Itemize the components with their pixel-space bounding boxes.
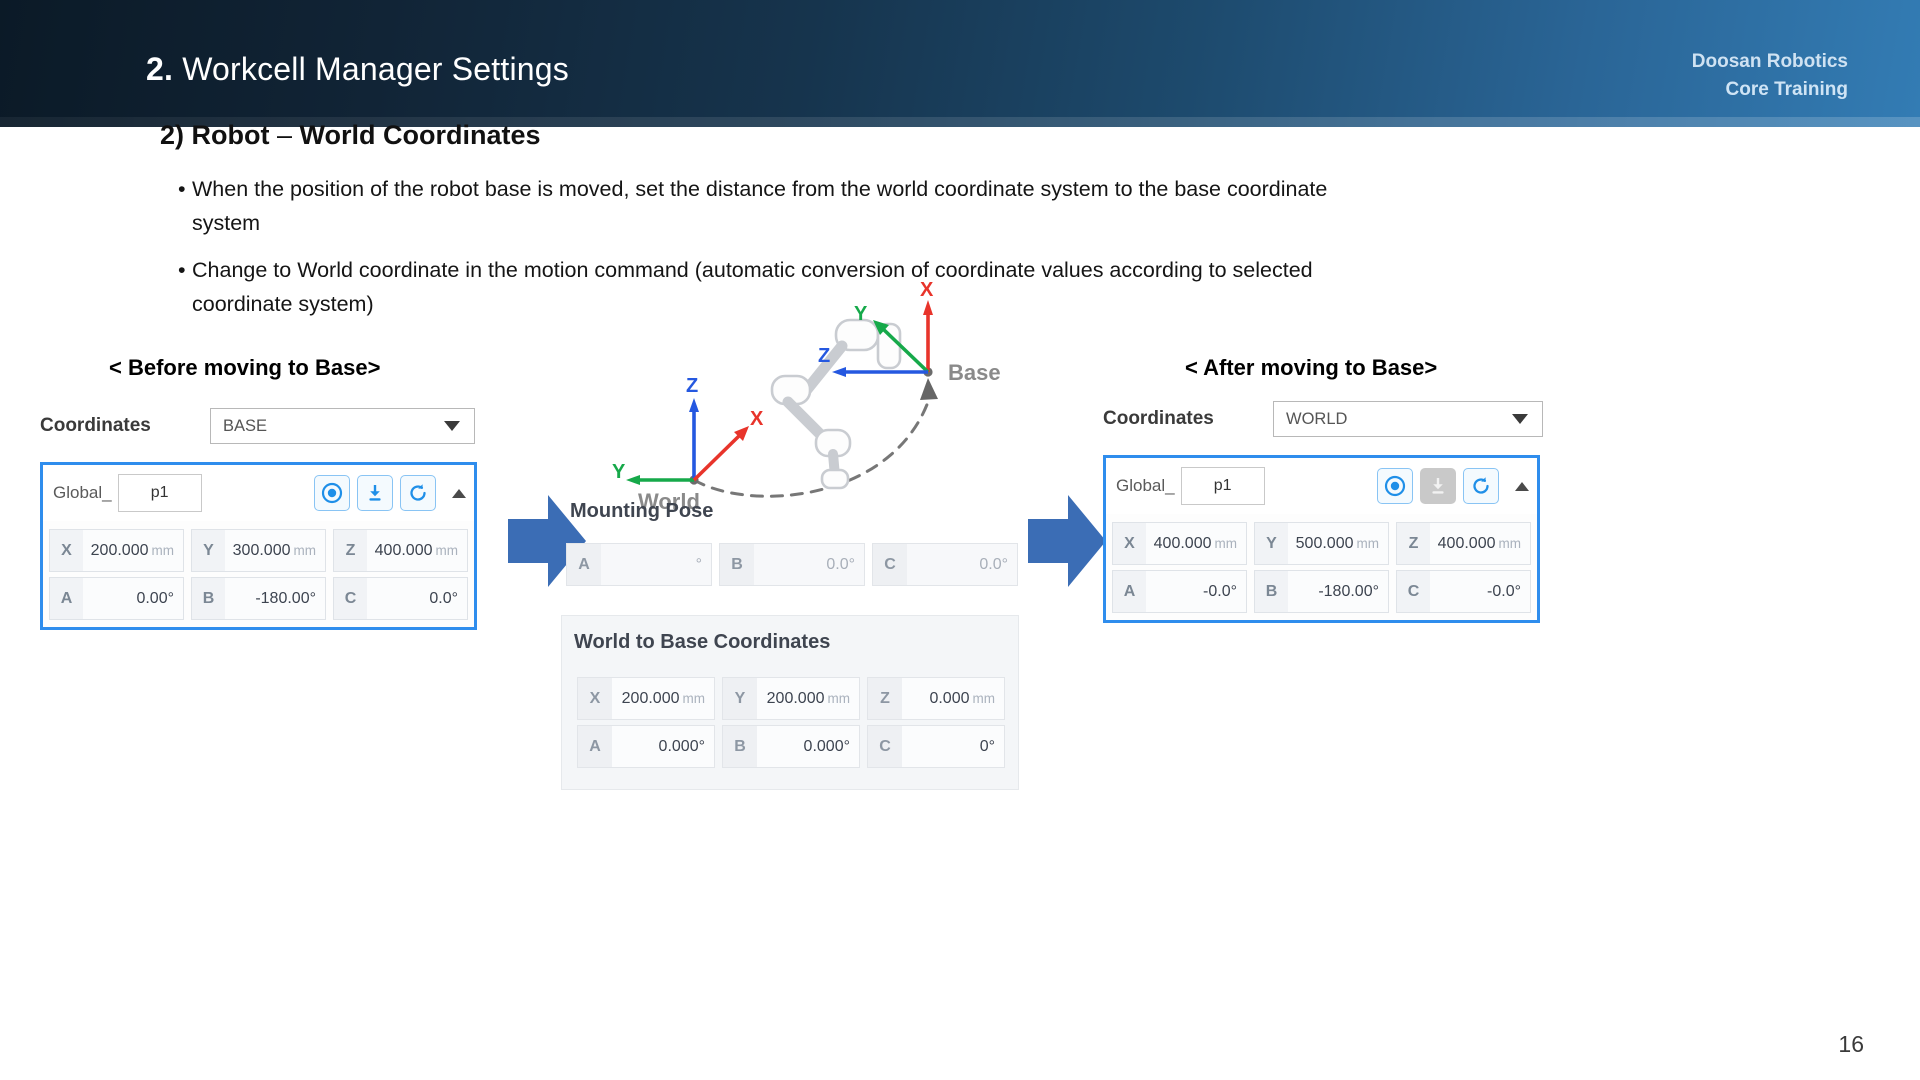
pose-row-abc: A 0.00° B -180.00° C 0.0° bbox=[49, 577, 468, 620]
page-title-text: Workcell Manager Settings bbox=[182, 51, 569, 87]
svg-text:Z: Z bbox=[818, 345, 830, 367]
axis-label-c: C bbox=[868, 726, 902, 767]
pose-field-z[interactable]: Z 400.000mm bbox=[1396, 522, 1531, 565]
arc-arrowhead bbox=[920, 378, 938, 400]
caption-after-moving: < After moving to Base> bbox=[1185, 355, 1437, 381]
svg-text:Z: Z bbox=[686, 375, 698, 397]
coordinate-frames-illustration: Z Y X World X Y Z Base bbox=[590, 280, 1040, 510]
coordinates-select-right[interactable]: WORLD bbox=[1273, 401, 1543, 437]
target-icon-button[interactable] bbox=[314, 475, 350, 511]
axis-label-z: Z bbox=[1397, 523, 1430, 564]
axis-label-x: X bbox=[50, 530, 83, 571]
axis-label-b: B bbox=[192, 578, 225, 619]
axis-label-b: B bbox=[720, 544, 754, 585]
mounting-field-a[interactable]: A ° bbox=[566, 543, 712, 586]
axis-value-x: 200.000mm bbox=[612, 690, 714, 708]
axis-value-a: 0.00° bbox=[83, 590, 183, 608]
world-to-base-grid: X 200.000mm Y 200.000mm Z 0.000mm A 0.00… bbox=[577, 672, 1005, 768]
axis-label-z: Z bbox=[868, 678, 902, 719]
collapse-up-caret-icon[interactable] bbox=[452, 489, 466, 498]
axis-value-b: -180.00° bbox=[225, 590, 325, 608]
pose-field-x[interactable]: X 400.000mm bbox=[1112, 522, 1247, 565]
axis-value-z: 400.000mm bbox=[1430, 535, 1530, 553]
target-icon-button[interactable] bbox=[1377, 468, 1413, 504]
axis-label-b: B bbox=[723, 726, 757, 767]
axis-value-b: 0.000° bbox=[757, 738, 859, 756]
pose-name-input[interactable]: p1 bbox=[118, 474, 202, 512]
svg-text:Base: Base bbox=[948, 360, 1001, 385]
axis-label-c: C bbox=[1397, 571, 1430, 612]
axis-label-c: C bbox=[873, 544, 907, 585]
w2b-field-a[interactable]: A 0.000° bbox=[577, 725, 715, 768]
pose-field-b[interactable]: B -180.00° bbox=[191, 577, 326, 620]
axis-label-a: A bbox=[578, 726, 612, 767]
refresh-icon-button[interactable] bbox=[400, 475, 436, 511]
w2b-field-x[interactable]: X 200.000mm bbox=[577, 677, 715, 720]
section-title-suffix: World Coordinates bbox=[300, 120, 541, 150]
world-base-frames-diagram: Z Y X World X Y Z Base bbox=[590, 280, 1040, 510]
pose-row-xyz: X 200.000mm Y 300.000mm Z 400.000mm bbox=[49, 529, 468, 572]
global-label: Global_ bbox=[1116, 476, 1175, 496]
pose-panel-before: Global_ p1 bbox=[40, 462, 477, 630]
coordinates-select-value-right: WORLD bbox=[1286, 410, 1347, 429]
world-to-base-title: World to Base Coordinates bbox=[574, 631, 830, 654]
target-icon bbox=[1384, 475, 1406, 497]
axis-value-z: 0.000mm bbox=[902, 690, 1004, 708]
axis-label-c: C bbox=[334, 578, 367, 619]
refresh-icon bbox=[407, 482, 429, 504]
pose-row-abc: A -0.0° B -180.00° C -0.0° bbox=[1112, 570, 1531, 613]
axis-label-y: Y bbox=[192, 530, 225, 571]
mounting-pose-grid: A ° B 0.0° C 0.0° bbox=[566, 538, 1018, 586]
w2b-row-abc: A 0.000° B 0.000° C 0° bbox=[577, 725, 1005, 768]
pose-name-value: p1 bbox=[151, 484, 169, 502]
axis-value-b: -180.00° bbox=[1288, 583, 1388, 601]
axis-label-a: A bbox=[1113, 571, 1146, 612]
save-download-icon-button[interactable] bbox=[357, 475, 393, 511]
page-title: 2. Workcell Manager Settings bbox=[146, 51, 569, 88]
pose-row-xyz: X 400.000mm Y 500.000mm Z 400.000mm bbox=[1112, 522, 1531, 565]
motion-arc bbox=[694, 402, 928, 496]
brand-line-1: Doosan Robotics bbox=[1692, 48, 1848, 76]
axis-label-a: A bbox=[567, 544, 601, 585]
bullet-marker: • bbox=[178, 172, 186, 206]
brand-block: Doosan Robotics Core Training bbox=[1692, 48, 1848, 104]
pose-name-value: p1 bbox=[1214, 477, 1232, 495]
caption-before-moving: < Before moving to Base> bbox=[109, 355, 380, 381]
w2b-row-xyz: X 200.000mm Y 200.000mm Z 0.000mm bbox=[577, 677, 1005, 720]
axis-label-b: B bbox=[1255, 571, 1288, 612]
pose-value-grid: X 200.000mm Y 300.000mm Z 400.000mm A 0.… bbox=[43, 521, 474, 627]
section-title-dash: – bbox=[277, 120, 292, 150]
svg-text:Y: Y bbox=[612, 461, 626, 483]
axis-value-c: 0.0° bbox=[907, 556, 1017, 574]
refresh-icon-button[interactable] bbox=[1463, 468, 1499, 504]
mounting-pose-title: Mounting Pose bbox=[570, 500, 713, 523]
axis-value-c: 0° bbox=[902, 738, 1004, 756]
coordinates-row-right: Coordinates WORLD bbox=[1103, 401, 1543, 437]
axis-label-z: Z bbox=[334, 530, 367, 571]
axis-label-x: X bbox=[578, 678, 612, 719]
axis-label-y: Y bbox=[723, 678, 757, 719]
w2b-field-c[interactable]: C 0° bbox=[867, 725, 1005, 768]
collapse-up-caret-icon[interactable] bbox=[1515, 482, 1529, 491]
axis-label-y: Y bbox=[1255, 523, 1288, 564]
section-title-prefix: 2) Robot bbox=[160, 120, 269, 150]
chevron-down-icon bbox=[444, 421, 460, 431]
pose-action-buttons bbox=[1377, 468, 1529, 504]
pose-panel-after: Global_ p1 bbox=[1103, 455, 1540, 623]
coordinates-label-right: Coordinates bbox=[1103, 408, 1273, 430]
w2b-field-b[interactable]: B 0.000° bbox=[722, 725, 860, 768]
bullet-text: When the position of the robot base is m… bbox=[192, 172, 1378, 240]
refresh-icon bbox=[1470, 475, 1492, 497]
pose-field-z[interactable]: Z 400.000mm bbox=[333, 529, 468, 572]
save-download-icon-button bbox=[1420, 468, 1456, 504]
mounting-pose-row-abc: A ° B 0.0° C 0.0° bbox=[566, 543, 1018, 586]
pose-action-buttons bbox=[314, 475, 466, 511]
global-label: Global_ bbox=[53, 483, 112, 503]
target-icon bbox=[321, 482, 343, 504]
pose-field-c[interactable]: C -0.0° bbox=[1396, 570, 1531, 613]
axis-value-a: ° bbox=[601, 556, 711, 574]
save-download-icon bbox=[1427, 475, 1449, 497]
brand-line-2: Core Training bbox=[1692, 76, 1848, 104]
w2b-field-z[interactable]: Z 0.000mm bbox=[867, 677, 1005, 720]
axis-value-x: 400.000mm bbox=[1146, 535, 1246, 553]
axis-label-x: X bbox=[1113, 523, 1146, 564]
slide-root: 2. Workcell Manager Settings Doosan Robo… bbox=[0, 0, 1920, 1080]
svg-text:Y: Y bbox=[854, 303, 868, 325]
svg-text:X: X bbox=[750, 408, 764, 430]
coordinates-select-left[interactable]: BASE bbox=[210, 408, 475, 444]
axis-value-c: 0.0° bbox=[367, 590, 467, 608]
axis-value-c: -0.0° bbox=[1430, 583, 1530, 601]
axis-value-y: 300.000mm bbox=[225, 542, 325, 560]
pose-field-y[interactable]: Y 300.000mm bbox=[191, 529, 326, 572]
svg-text:X: X bbox=[920, 280, 934, 301]
pose-panel-header: Global_ p1 bbox=[1106, 458, 1537, 514]
coordinates-label-left: Coordinates bbox=[40, 415, 210, 437]
w2b-field-y[interactable]: Y 200.000mm bbox=[722, 677, 860, 720]
pose-field-a[interactable]: A 0.00° bbox=[49, 577, 184, 620]
mounting-field-c[interactable]: C 0.0° bbox=[872, 543, 1018, 586]
pose-name-input[interactable]: p1 bbox=[1181, 467, 1265, 505]
bullet-marker: • bbox=[178, 253, 186, 287]
axis-label-a: A bbox=[50, 578, 83, 619]
axis-value-y: 200.000mm bbox=[757, 690, 859, 708]
pose-panel-header: Global_ p1 bbox=[43, 465, 474, 521]
axis-value-a: -0.0° bbox=[1146, 583, 1246, 601]
robot-arm-outline bbox=[772, 320, 900, 488]
axis-value-b: 0.0° bbox=[754, 556, 864, 574]
page-title-number: 2. bbox=[146, 51, 173, 87]
chevron-down-icon bbox=[1512, 414, 1528, 424]
world-to-base-panel: World to Base Coordinates X 200.000mm Y … bbox=[561, 615, 1019, 790]
axis-value-z: 400.000mm bbox=[367, 542, 467, 560]
axis-value-a: 0.000° bbox=[612, 738, 714, 756]
pose-field-y[interactable]: Y 500.000mm bbox=[1254, 522, 1389, 565]
axis-value-y: 500.000mm bbox=[1288, 535, 1388, 553]
coordinates-select-value-left: BASE bbox=[223, 417, 267, 436]
pose-field-c[interactable]: C 0.0° bbox=[333, 577, 468, 620]
pose-field-b[interactable]: B -180.00° bbox=[1254, 570, 1389, 613]
world-frame: Z Y X World bbox=[612, 375, 764, 510]
section-title: 2) Robot – World Coordinates bbox=[160, 120, 541, 151]
pose-field-x[interactable]: X 200.000mm bbox=[49, 529, 184, 572]
bullet-item: • When the position of the robot base is… bbox=[178, 172, 1378, 240]
mounting-field-b[interactable]: B 0.0° bbox=[719, 543, 865, 586]
page-number: 16 bbox=[1838, 1031, 1864, 1058]
axis-value-x: 200.000mm bbox=[83, 542, 183, 560]
pose-value-grid: X 400.000mm Y 500.000mm Z 400.000mm A -0… bbox=[1106, 514, 1537, 620]
slide-header: 2. Workcell Manager Settings Doosan Robo… bbox=[0, 0, 1920, 127]
coordinates-row-left: Coordinates BASE bbox=[40, 408, 475, 444]
pose-field-a[interactable]: A -0.0° bbox=[1112, 570, 1247, 613]
save-download-icon bbox=[364, 482, 386, 504]
